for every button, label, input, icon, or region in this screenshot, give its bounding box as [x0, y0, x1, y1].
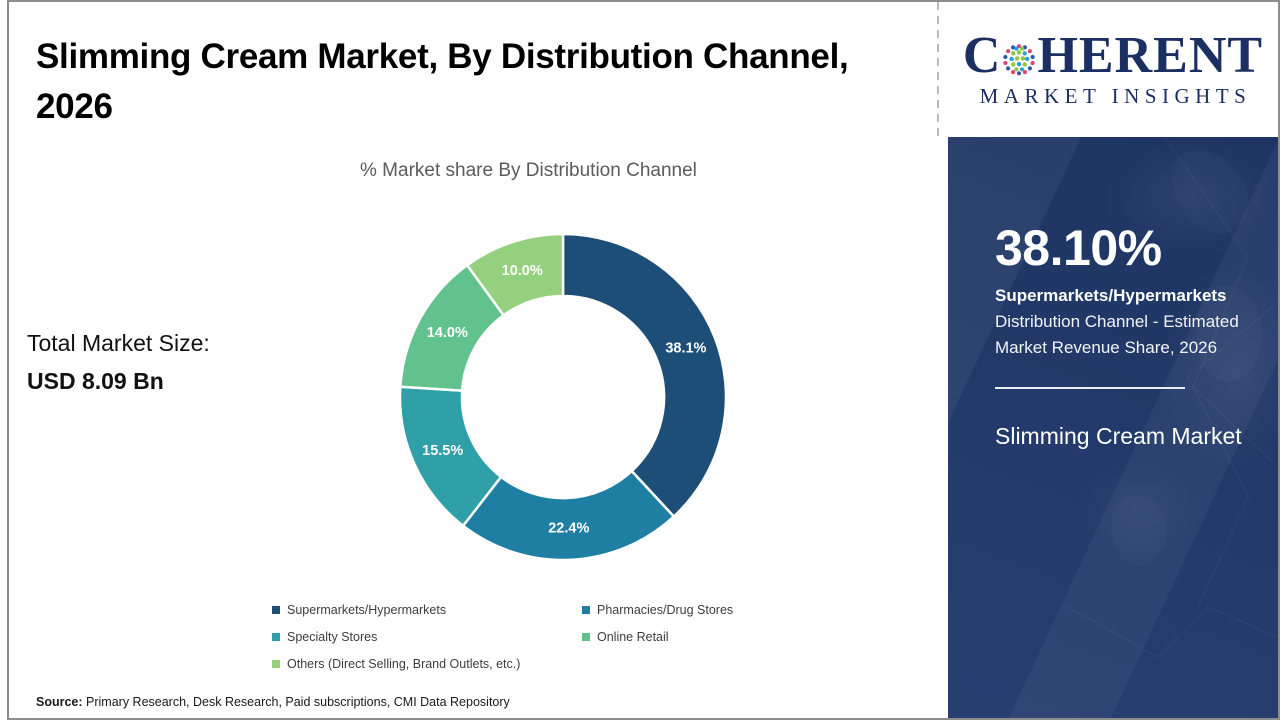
highlight-segment-name: Supermarkets/Hypermarkets [995, 286, 1227, 305]
side-panel-content: 38.10% Supermarkets/Hypermarkets Distrib… [995, 221, 1253, 455]
legend-item[interactable]: Supermarkets/Hypermarkets [272, 596, 582, 623]
legend-item[interactable]: Others (Direct Selling, Brand Outlets, e… [272, 650, 892, 677]
chart-legend: Supermarkets/HypermarketsPharmacies/Drug… [272, 596, 892, 677]
donut-data-label: 15.5% [422, 443, 463, 459]
highlight-description: Supermarkets/Hypermarkets Distribution C… [995, 283, 1253, 361]
donut-slice-group [400, 234, 726, 560]
donut-chart-svg: 38.1%22.4%15.5%14.0%10.0% [398, 222, 728, 572]
vertical-dashed-divider [937, 2, 939, 138]
donut-data-label: 22.4% [548, 521, 589, 537]
highlight-percentage: 38.10% [995, 221, 1253, 275]
donut-data-label: 38.1% [665, 341, 706, 357]
logo-tagline: MARKET INSIGHTS [975, 84, 1252, 109]
donut-slice [563, 234, 726, 517]
source-label: Source: [36, 695, 83, 709]
legend-item[interactable]: Specialty Stores [272, 623, 582, 650]
donut-data-label: 14.0% [427, 325, 468, 341]
page-border-left [7, 0, 9, 720]
legend-item[interactable]: Pharmacies/Drug Stores [582, 596, 892, 623]
legend-swatch [582, 606, 590, 614]
donut-chart: 38.1%22.4%15.5%14.0%10.0% [398, 222, 728, 572]
chart-subtitle: % Market share By Distribution Channel [360, 160, 920, 182]
infographic-page: Slimming Cream Market, By Distribution C… [0, 0, 1280, 720]
brand-logo: C [948, 2, 1278, 137]
legend-label: Others (Direct Selling, Brand Outlets, e… [287, 657, 520, 671]
page-title: Slimming Cream Market, By Distribution C… [36, 32, 876, 132]
legend-label: Pharmacies/Drug Stores [597, 603, 733, 617]
legend-swatch [272, 633, 280, 641]
legend-swatch [272, 606, 280, 614]
panel-divider [995, 387, 1185, 389]
total-market-size: Total Market Size: USD 8.09 Bn [27, 324, 307, 400]
source-text: Primary Research, Desk Research, Paid su… [83, 695, 510, 709]
total-market-size-value: USD 8.09 Bn [27, 362, 307, 400]
logo-wordmark-text: HERENT [1037, 30, 1263, 82]
legend-label: Supermarkets/Hypermarkets [287, 603, 446, 617]
highlight-side-panel: 38.10% Supermarkets/Hypermarkets Distrib… [948, 137, 1278, 718]
logo-letter-c: C [963, 30, 1002, 82]
total-market-size-label: Total Market Size: [27, 330, 210, 356]
source-note: Source: Primary Research, Desk Research,… [36, 695, 510, 709]
legend-swatch [582, 633, 590, 641]
market-name: Slimming Cream Market [995, 417, 1253, 455]
highlight-description-rest: Distribution Channel - Estimated Market … [995, 312, 1239, 357]
donut-data-label: 10.0% [502, 263, 543, 279]
globe-dots-icon [1002, 42, 1036, 76]
legend-label: Specialty Stores [287, 630, 377, 644]
legend-item[interactable]: Online Retail [582, 623, 892, 650]
legend-label: Online Retail [597, 630, 669, 644]
legend-swatch [272, 660, 280, 668]
logo-wordmark: C [963, 30, 1263, 82]
